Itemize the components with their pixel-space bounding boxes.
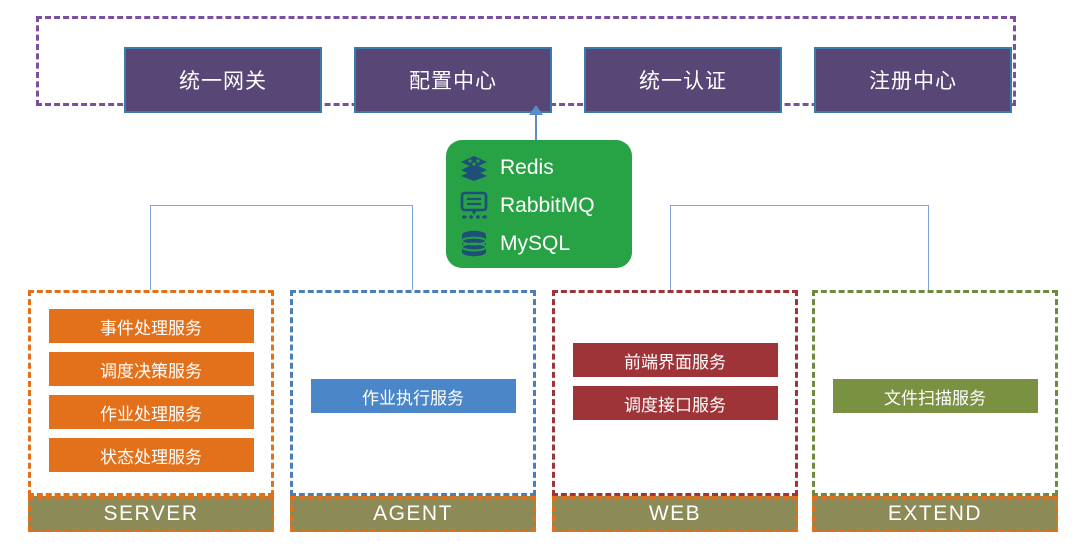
middleware-label: MySQL xyxy=(500,232,570,256)
service-label: 调度决策服务 xyxy=(100,357,202,382)
database-cylinder-icon xyxy=(456,227,492,260)
connector-drop-extend xyxy=(928,205,929,290)
module-footer-label: WEB xyxy=(649,502,701,526)
module-footer-agent: AGENT xyxy=(290,496,536,532)
module-footer-label: EXTEND xyxy=(888,502,982,526)
connector-bus-left xyxy=(150,205,412,206)
platform-box-unified-auth[interactable]: 统一认证 xyxy=(584,47,782,113)
module-footer-label: SERVER xyxy=(104,502,199,526)
platform-box-label: 统一网关 xyxy=(179,65,267,95)
platform-box-label: 配置中心 xyxy=(409,65,497,95)
service-label: 作业执行服务 xyxy=(362,384,464,409)
service-label: 调度接口服务 xyxy=(624,391,726,416)
connector-drop-agent xyxy=(412,205,413,290)
middleware-label: Redis xyxy=(500,156,554,180)
architecture-diagram: 统一网关 配置中心 统一认证 注册中心 xyxy=(0,0,1080,545)
service-stack-web: 前端界面服务 调度接口服务 xyxy=(555,343,795,429)
platform-box-label: 注册中心 xyxy=(869,65,957,95)
connector-bus-right xyxy=(670,205,928,206)
module-footer-label: AGENT xyxy=(373,502,453,526)
service-box[interactable]: 前端界面服务 xyxy=(573,343,778,377)
module-footer-web: WEB xyxy=(552,496,798,532)
service-label: 前端界面服务 xyxy=(624,348,726,373)
service-label: 状态处理服务 xyxy=(100,443,202,468)
module-footer-server: SERVER xyxy=(28,496,274,532)
service-box[interactable]: 状态处理服务 xyxy=(49,438,254,472)
service-box[interactable]: 调度接口服务 xyxy=(573,386,778,420)
service-box[interactable]: 调度决策服务 xyxy=(49,352,254,386)
service-box[interactable]: 事件处理服务 xyxy=(49,309,254,343)
middleware-item-mysql: MySQL xyxy=(456,225,632,262)
platform-box-registry-center[interactable]: 注册中心 xyxy=(814,47,1012,113)
service-label: 文件扫描服务 xyxy=(884,384,986,409)
module-footer-extend: EXTEND xyxy=(812,496,1058,532)
middleware-item-redis: Redis xyxy=(456,149,632,186)
platform-box-config-center[interactable]: 配置中心 xyxy=(354,47,552,113)
layers-stack-icon xyxy=(456,151,492,184)
middleware-item-rabbitmq: RabbitMQ xyxy=(456,187,632,224)
connector-drop-server xyxy=(150,205,151,290)
service-stack-agent: 作业执行服务 xyxy=(293,379,533,422)
module-extend: 文件扫描服务 xyxy=(812,290,1058,496)
service-box[interactable]: 文件扫描服务 xyxy=(833,379,1038,413)
connector-drop-web xyxy=(670,205,671,290)
module-web: 前端界面服务 调度接口服务 xyxy=(552,290,798,496)
message-bubble-icon xyxy=(456,189,492,222)
service-stack-extend: 文件扫描服务 xyxy=(815,379,1055,422)
middleware-label: RabbitMQ xyxy=(500,194,595,218)
platform-box-label: 统一认证 xyxy=(639,65,727,95)
platform-box-unified-gateway[interactable]: 统一网关 xyxy=(124,47,322,113)
service-label: 作业处理服务 xyxy=(100,400,202,425)
connector-middleware-to-platform xyxy=(535,112,537,142)
service-label: 事件处理服务 xyxy=(100,314,202,339)
service-box[interactable]: 作业处理服务 xyxy=(49,395,254,429)
middleware-block[interactable]: Redis RabbitMQ xyxy=(446,140,632,268)
platform-layer-container: 统一网关 配置中心 统一认证 注册中心 xyxy=(36,16,1016,106)
module-server: 事件处理服务 调度决策服务 作业处理服务 状态处理服务 xyxy=(28,290,274,496)
service-box[interactable]: 作业执行服务 xyxy=(311,379,516,413)
service-stack-server: 事件处理服务 调度决策服务 作业处理服务 状态处理服务 xyxy=(31,309,271,481)
module-agent: 作业执行服务 xyxy=(290,290,536,496)
